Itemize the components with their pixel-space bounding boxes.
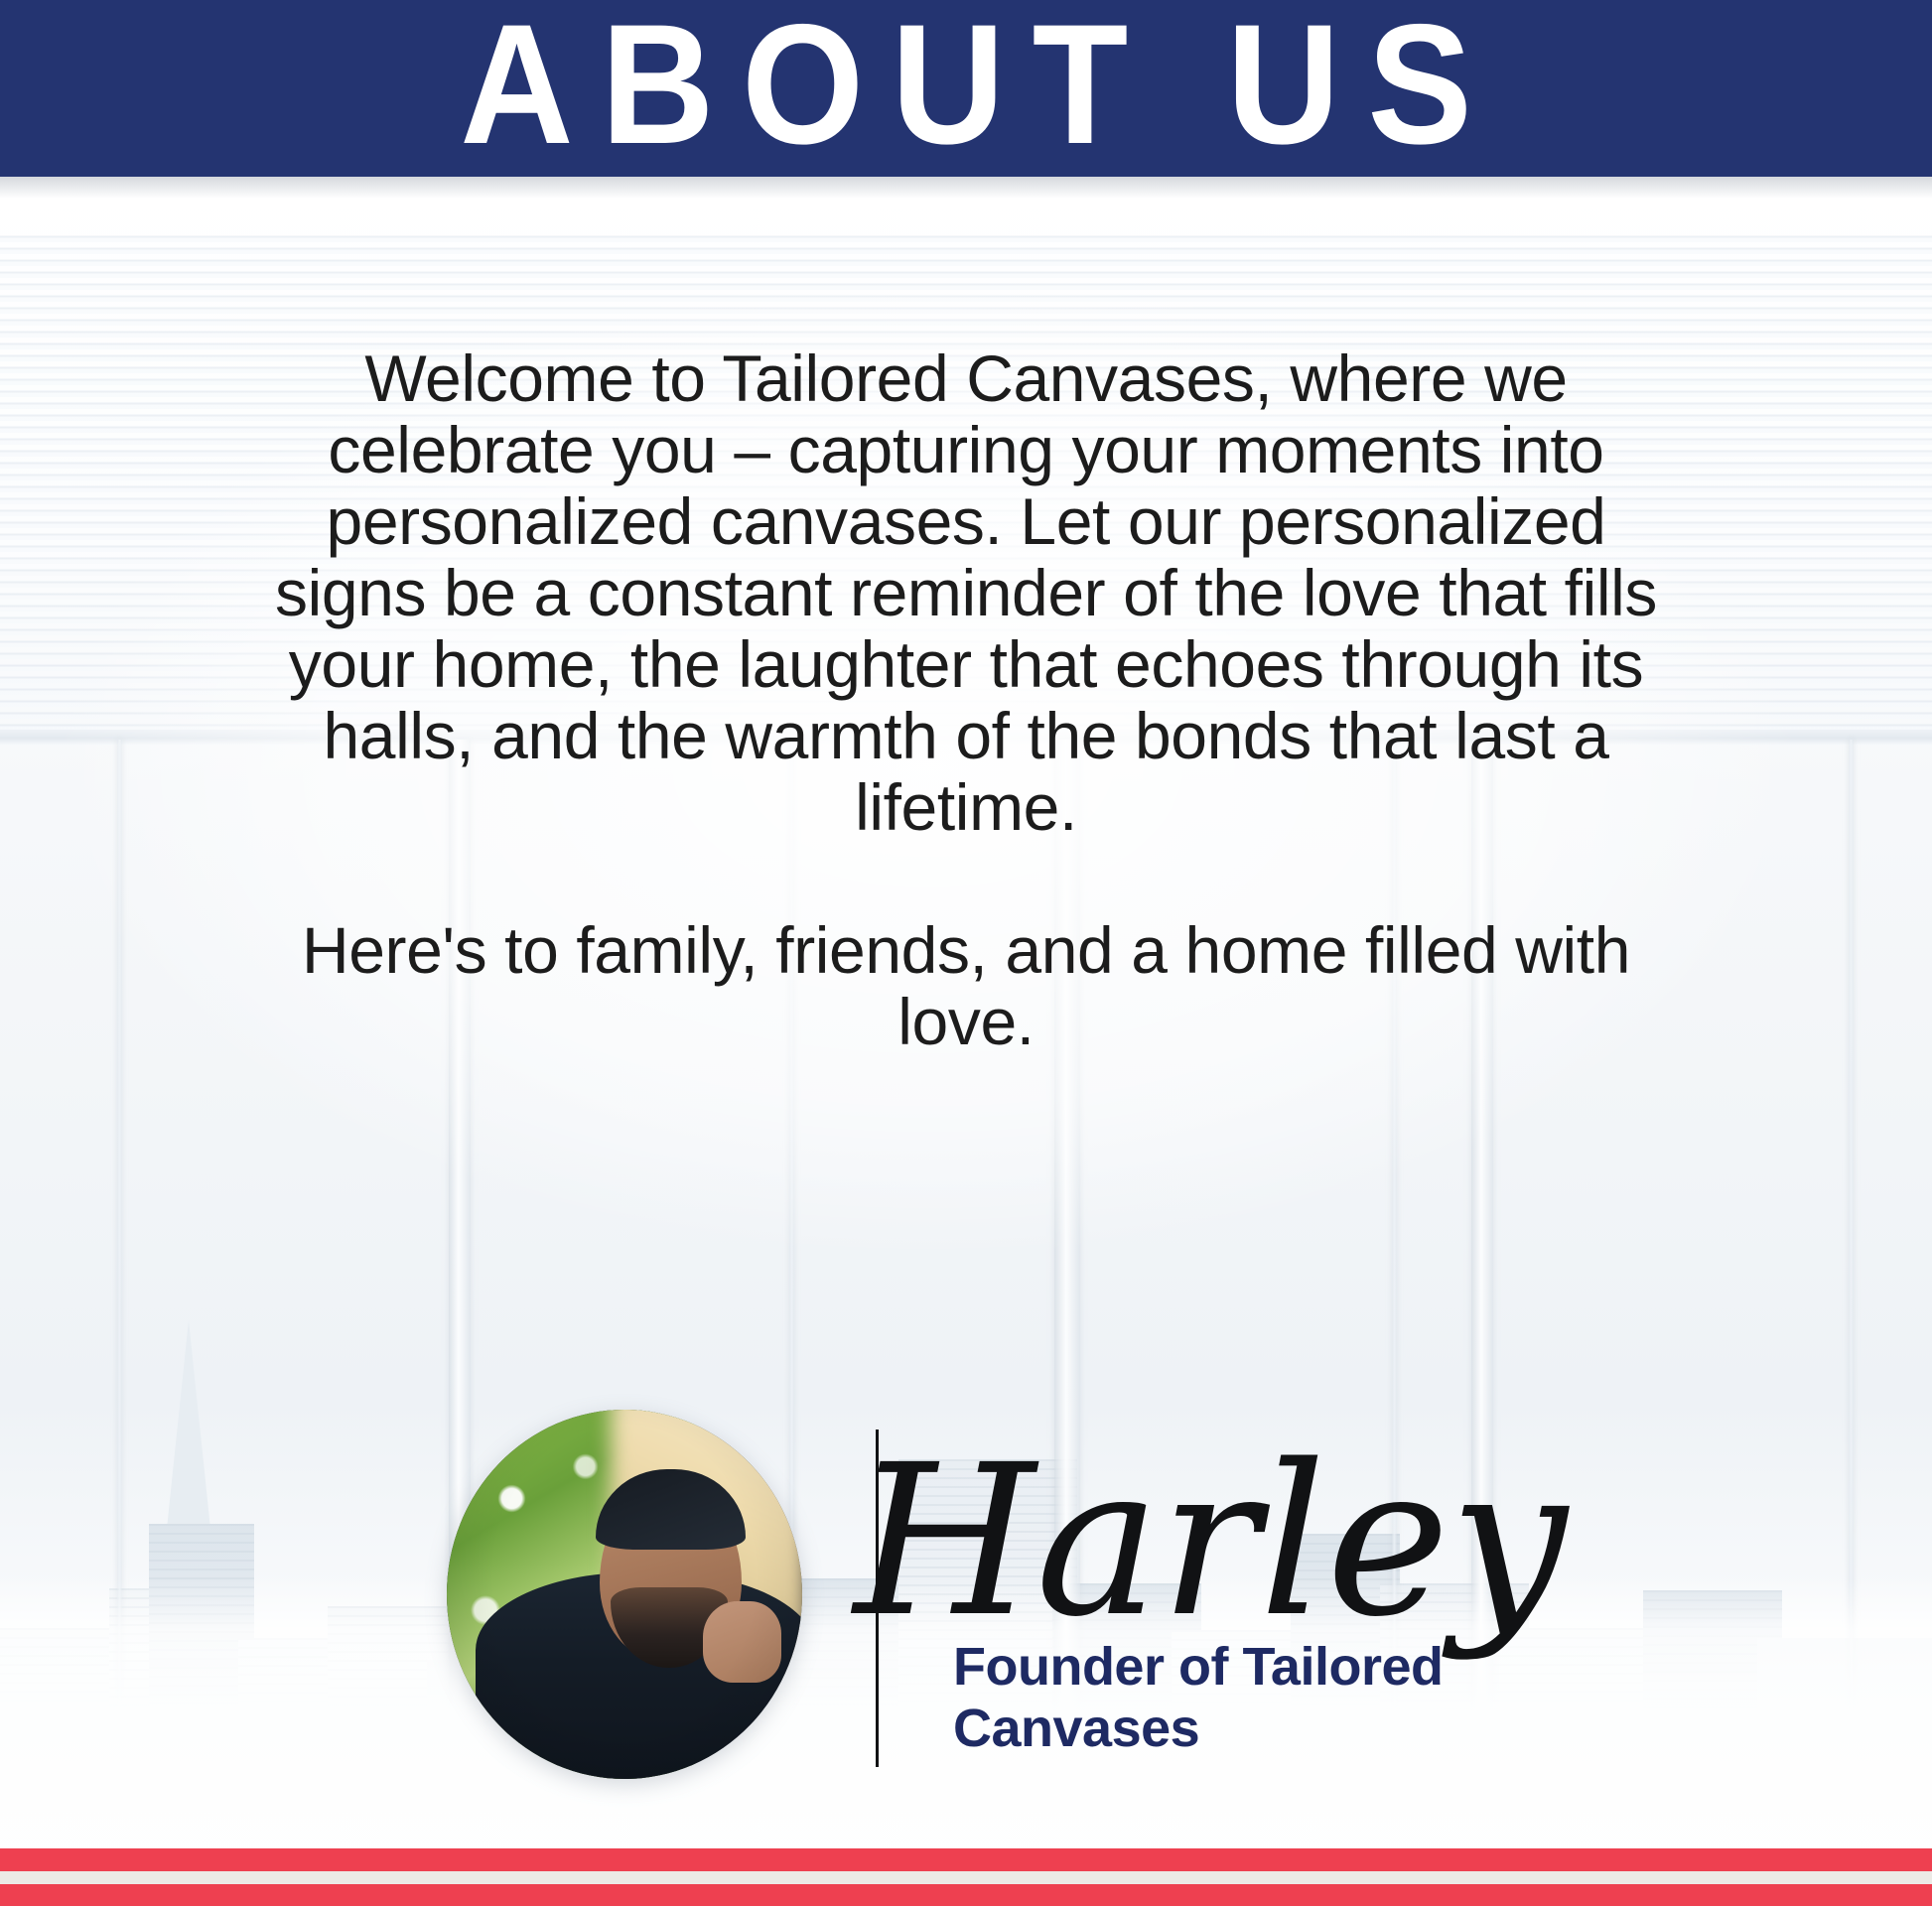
founder-role: Founder of Tailored Canvases bbox=[953, 1636, 1509, 1759]
paragraph-closing: Here's to family, friends, and a home fi… bbox=[246, 914, 1686, 1057]
paragraph-spacer bbox=[246, 843, 1686, 914]
header-drop-shadow bbox=[0, 177, 1932, 199]
signature-name-text: Harley bbox=[850, 1420, 1570, 1663]
vertical-divider bbox=[876, 1429, 879, 1767]
paragraph-intro: Welcome to Tailored Canvases, where we c… bbox=[246, 342, 1686, 843]
footer-accent-gap bbox=[0, 1871, 1932, 1884]
page-title: ABOUT US bbox=[433, 0, 1500, 170]
about-us-poster: ABOUT US Welcome to Tailored Canvases, w… bbox=[0, 0, 1932, 1906]
header-bar: ABOUT US bbox=[0, 0, 1932, 177]
founder-portrait-art bbox=[447, 1410, 802, 1779]
avatar bbox=[447, 1410, 802, 1779]
signature-block: Harley Founder of Tailored Canvases bbox=[427, 1400, 1519, 1797]
footer-accent-bar-bottom bbox=[0, 1884, 1932, 1906]
footer-accent-bar-top bbox=[0, 1848, 1932, 1871]
founder-role-line-2: Canvases bbox=[953, 1698, 1509, 1759]
about-us-copy: Welcome to Tailored Canvases, where we c… bbox=[246, 342, 1686, 1057]
founder-role-line-1: Founder of Tailored bbox=[953, 1636, 1509, 1698]
